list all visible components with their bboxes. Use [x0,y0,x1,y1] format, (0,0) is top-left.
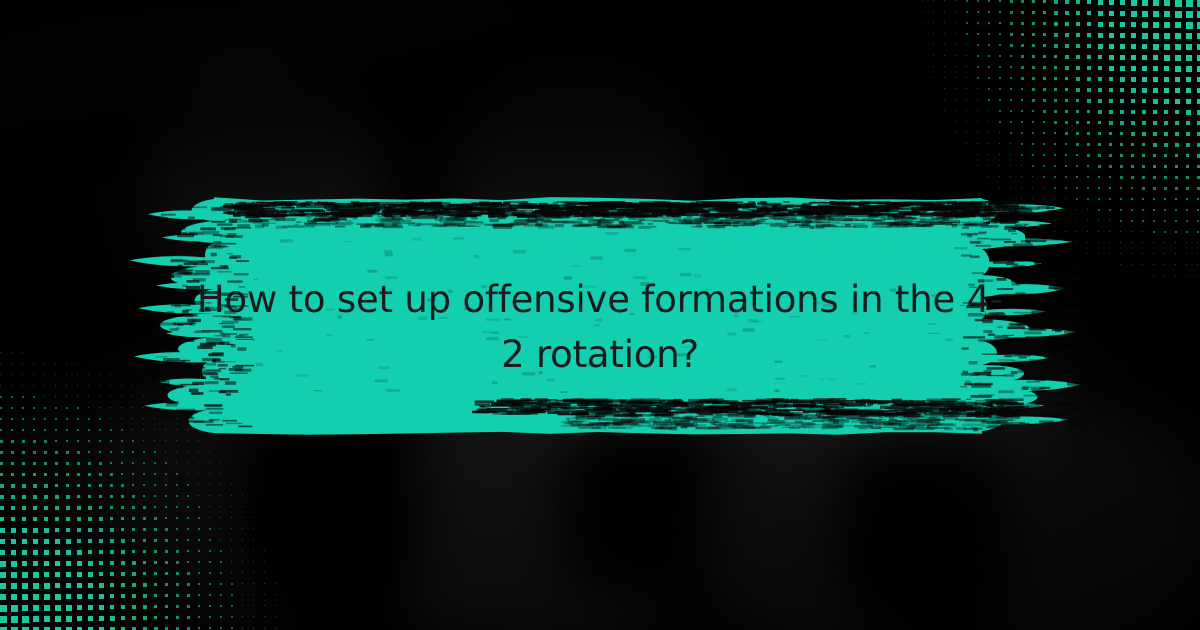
brush-bristle [671,423,681,425]
brush-bristle [1015,224,1023,227]
brush-bristle [209,419,219,420]
brush-bristle [1013,244,1033,247]
brush-bristle [253,223,276,224]
brush-bristle [226,423,243,425]
brush-bristle [1012,266,1027,269]
brush-bristle [767,417,776,418]
brush-bristle [382,219,404,222]
brush-bristle [726,388,737,391]
brush-bristle [813,419,838,421]
brush-bristle [220,265,228,267]
brush-bristle [621,409,650,412]
brush-bristle [762,212,774,214]
brush-bristle [874,208,881,211]
brush-bristle [561,407,585,409]
brush-bristle [237,219,242,221]
brush-bristle [860,403,866,406]
brush-bristle [1046,207,1055,209]
brush-bristle [1061,219,1079,221]
brush-bristle [415,215,438,218]
brush-bristle [934,419,945,421]
brush-bristle [987,405,994,407]
brush-bristle [783,201,789,203]
brush-bristle [508,223,525,226]
brush-bristle [238,426,252,428]
brush-bristle [375,224,397,227]
brush-bristle [967,222,985,223]
brush-bristle [885,211,916,212]
brush-bristle [184,417,194,420]
brush-bristle [505,211,526,212]
brush-bristle [801,423,815,426]
brush-bristle [882,219,899,220]
brush-bristle [1031,388,1045,389]
brush-bristle [193,246,206,250]
brush-bristle [799,409,828,410]
brush-bristle [166,253,174,255]
brush-bristle [328,209,356,211]
brush-bristle [176,219,180,221]
brush-bristle [188,217,195,219]
brush-bristle [784,415,808,418]
brush-bristle [978,232,986,234]
brush-bristle [645,216,663,218]
brush-bristle [595,211,624,214]
brush-bristle [453,217,465,218]
brush-bristle [517,216,539,218]
brush-bristle [206,408,224,410]
brush-bristle [843,207,853,210]
brush-bristle [555,411,571,413]
brush-bristle [845,218,858,220]
brush-bristle [214,245,226,247]
brush-bristle [206,424,223,425]
brush-bristle [204,404,222,406]
brush-bristle [1035,262,1040,265]
brush-bristle [638,218,645,221]
brush-bristle [1075,258,1094,259]
brush-bristle [622,400,653,403]
brush-bristle [975,411,981,413]
brush-bristle [491,405,499,406]
brush-bristle [479,207,493,209]
brush-bristle [236,260,249,262]
brush-bristle [158,383,169,386]
brush-bristle [605,232,619,235]
brush-bristle [544,221,569,223]
brush-bristle [696,225,702,228]
brush-bristle [713,416,722,419]
brush-bristle [940,424,956,427]
brush-bristle [397,210,414,212]
brush-bristle [1045,238,1060,241]
brush-bristle [1019,423,1029,424]
brush-bristle [625,249,637,252]
brush-bristle [285,215,300,216]
brush-bristle [743,410,761,413]
brush-bristle [1074,265,1093,269]
brush-bristle [317,212,331,215]
brush-bristle [385,253,393,256]
brush-bristle [458,225,475,227]
brush-bristle [1020,248,1039,250]
brush-bristle [213,234,222,236]
brush-bristle [169,242,175,244]
brush-bristle [793,401,797,403]
brush-bristle [951,224,958,225]
brush-bristle [995,258,1000,262]
brush-bristle [894,216,911,218]
brush-bristle [798,213,808,215]
brush-bristle [850,418,873,420]
brush-bristle [965,224,971,226]
brush-bristle [472,411,489,413]
brush-bristle [943,416,955,418]
brush-bristle [1040,267,1050,269]
brush-bristle [160,225,175,228]
brush-bristle [956,403,966,405]
brush-bristle [590,256,602,259]
brush-bristle [1045,231,1054,233]
brush-bristle [648,223,653,225]
brush-bristle [403,202,433,205]
brush-bristle [452,210,460,214]
brush-bristle [571,412,589,416]
brush-bristle [983,218,1001,221]
brush-bristle [821,428,838,429]
brush-bristle [314,390,323,391]
brush-bristle [981,426,999,427]
brush-bristle [653,424,672,426]
brush-bristle [364,207,378,209]
brush-bristle [960,386,967,387]
brush-bristle [889,410,903,412]
brush-bristle [609,204,619,205]
brush-bristle [415,225,421,226]
brush-bristle [1006,263,1018,265]
brush-bristle [1033,259,1045,262]
brush-bristle [978,414,990,415]
brush-bristle [844,414,869,417]
brush-bristle [772,399,789,403]
brush-bristle [155,247,173,249]
brush-bristle [939,408,969,410]
brush-bristle [453,238,463,240]
brush-bristle [954,216,962,217]
brush-bristle [165,228,182,230]
brush-bristle [766,422,781,424]
brush-bristle [512,402,540,405]
brush-bristle [899,425,925,428]
brush-bristle [228,211,236,215]
brush-bristle [187,421,204,423]
brush-bristle [585,403,609,405]
brush-bristle [232,206,263,208]
brush-bristle [987,251,1007,253]
brush-bristle [753,210,780,212]
brush-bristle [475,208,480,210]
brush-bristle [925,417,938,418]
brush-bristle [1000,414,1018,416]
brush-bristle [659,400,665,402]
brush-bristle [749,407,766,410]
brush-bristle [782,427,795,428]
brush-bristle [813,424,832,425]
brush-bristle [901,411,927,413]
brush-bristle [969,201,993,203]
brush-bristle [185,221,191,222]
brush-bristle [433,211,446,212]
brush-bristle [859,201,890,202]
brush-bristle [694,208,722,211]
brush-bristle [673,399,681,402]
brush-bristle [598,418,619,421]
brush-bristle [528,206,548,207]
brush-bristle [770,217,775,219]
brush-bristle [838,204,850,206]
brush-bristle [191,207,207,209]
brush-bristle [1026,239,1047,242]
brush-bristle [746,203,756,205]
brush-bristle [154,221,165,223]
brush-bristle [996,417,1020,419]
brush-bristle [817,217,834,220]
brush-bristle [651,208,683,210]
brush-bristle [893,403,916,405]
brush-bristle [726,216,746,218]
brush-bristle [537,216,558,217]
brush-bristle [203,231,219,235]
brush-bristle [185,269,194,271]
brush-bristle [687,215,692,217]
brush-bristle [547,404,551,408]
brush-bristle [622,420,636,421]
brush-bristle [487,408,491,411]
brush-bristle [767,420,787,421]
brush-bristle [524,223,548,226]
brush-bristle [778,403,801,406]
brush-bristle [281,207,295,209]
brush-bristle [916,427,934,430]
brush-bristle [184,263,197,265]
brush-bristle [625,415,637,417]
brush-bristle [178,265,182,268]
brush-bristle [706,225,727,226]
brush-bristle [922,400,933,401]
brush-bristle [998,390,1014,393]
brush-bristle [1000,206,1018,207]
brush-bristle [497,404,505,406]
brush-bristle [719,424,742,426]
brush-bristle [489,210,501,213]
brush-bristle [653,410,671,414]
brush-bristle [803,208,817,210]
brush-bristle [1028,407,1042,410]
brush-bristle [1044,422,1053,425]
brush-bristle [920,204,942,206]
brush-bristle [177,234,194,238]
brush-bristle [475,400,494,403]
brush-bristle [976,245,992,247]
brush-bristle [303,210,325,212]
brush-bristle [1028,219,1041,221]
brush-bristle [161,214,176,216]
brush-bristle [510,208,516,211]
brush-bristle [777,208,786,210]
brush-bristle [288,225,305,226]
brush-bristle [555,224,564,227]
brush-bristle [1006,403,1025,405]
brush-bristle [883,209,895,211]
brush-bristle [1069,425,1087,429]
brush-bristle [991,255,1004,257]
brush-bristle [371,202,404,203]
brush-bristle [737,413,750,414]
brush-bristle [167,401,179,404]
brush-bristle [867,421,890,423]
brush-bristle [508,406,523,408]
brush-bristle [1008,230,1016,233]
brush-bristle [572,265,580,266]
brush-bristle [259,214,281,216]
brush-bristle [593,408,597,411]
brush-bristle [649,414,671,416]
brush-bristle [1045,406,1064,407]
brush-bristle [731,204,738,206]
brush-bristle [443,209,462,210]
brush-bristle [831,213,840,215]
brush-bristle [684,207,692,209]
brush-bristle [798,422,810,423]
brush-bristle [335,226,345,228]
brush-bristle [1064,238,1080,241]
brush-bristle [976,400,985,402]
brush-bristle [307,217,312,220]
brush-bristle [599,408,614,410]
brush-bristle [878,427,896,428]
brush-bristle [191,392,204,394]
brush-bristle [652,203,664,204]
brush-bristle [513,250,526,254]
brush-bristle [345,220,352,221]
brush-bristle [695,218,714,222]
brush-bristle [784,418,806,420]
brush-bristle [173,248,179,250]
brush-bristle [595,413,606,416]
brush-bristle [432,225,448,227]
brush-bristle [195,254,201,257]
brush-bristle [335,222,353,224]
brush-bristle [548,208,573,210]
brush-bristle [280,239,293,242]
brush-bristle [939,220,960,224]
brush-bristle [879,416,883,419]
brush-bristle [471,217,478,220]
brush-bristle [684,222,695,224]
brush-bristle [655,409,682,410]
brush-bristle [514,400,537,402]
brush-bristle [977,238,990,239]
brush-bristle [1004,241,1016,243]
brush-bristle [910,416,925,418]
brush-bristle [757,202,767,205]
brush-bristle [605,399,613,400]
brush-bristle [613,423,637,425]
brush-bristle [156,217,167,221]
brush-bristle [416,205,444,208]
brush-bristle [689,408,705,411]
brush-bristle [226,393,231,396]
brush-bristle [639,226,651,229]
brush-bristle [1025,234,1037,237]
brush-bristle [962,424,985,427]
brush-bristle [932,208,937,210]
brush-bristle [301,202,322,204]
brush-bristle [600,201,623,202]
brush-bristle [192,382,204,385]
brush-bristle [847,216,869,217]
brush-bristle [454,219,465,220]
brush-bristle [934,213,946,215]
brush-bristle [577,424,593,427]
brush-bristle [531,410,546,413]
brush-bristle [270,218,285,221]
brush-bristle [1025,254,1039,257]
brush-bristle [535,218,544,221]
brush-bristle [344,241,352,242]
brush-bristle [951,406,972,408]
brush-bristle [568,420,578,422]
brush-bristle [296,221,300,222]
brush-bristle [1003,208,1017,211]
brush-bristle [1034,261,1053,263]
brush-bristle [830,201,835,202]
brush-bristle [981,225,999,228]
brush-bristle [854,383,867,384]
brush-bristle [748,201,755,203]
brush-bristle [693,421,718,424]
brush-bristle [905,202,933,205]
brush-bristle [223,420,238,422]
brush-bristle [867,220,885,222]
brush-bristle [1047,249,1056,252]
brush-bristle [961,254,972,256]
brush-bristle [585,401,590,403]
brush-bristle [386,389,400,391]
brush-bristle [709,405,738,408]
brush-bristle [561,211,580,215]
brush-bristle [819,401,845,404]
brush-bristle [971,395,992,398]
question-card-banner: How to set up offensive formations in th… [0,0,1200,630]
brush-bristle [775,213,794,216]
brush-bristle [607,226,626,229]
brush-bristle [462,224,486,225]
brush-bristle [1071,212,1080,216]
brush-bristle [920,215,934,217]
brush-bristle [991,239,1011,241]
brush-bristle [598,406,628,407]
brush-bristle [412,238,421,241]
brush-bristle [831,415,838,417]
brush-bristle [970,241,981,244]
brush-bristle [1021,412,1029,414]
brush-bristle [1067,420,1085,423]
brush-bristle [1024,395,1041,397]
brush-bristle [560,391,567,393]
brush-bristle [836,410,859,414]
brush-bristle [477,404,490,405]
